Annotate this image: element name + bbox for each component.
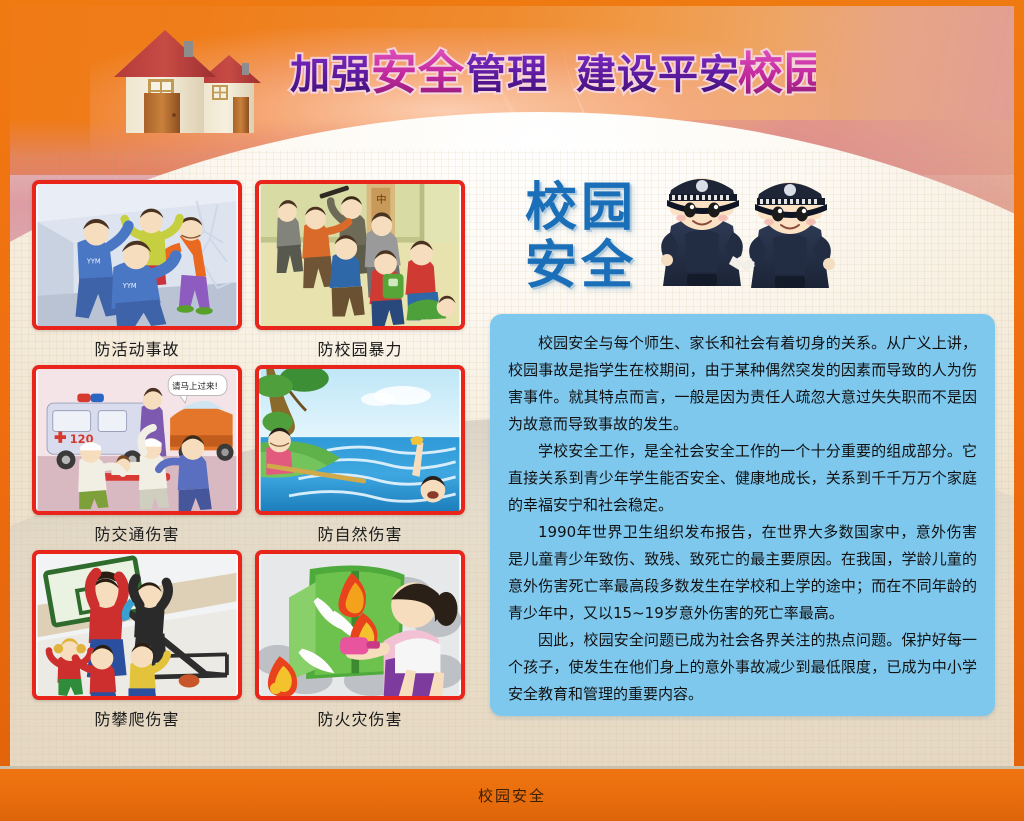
safety-gallery: YYM YYM 防活动事故 [32,180,472,740]
feature-heading-line1: 校园 [525,178,637,238]
article-paragraph-1: 校园安全与每个师生、家长和社会有着切身的关系。从广义上讲，校园事故是指学生在校期… [508,330,977,438]
article-paragraph-3: 1990年世界卫生组织发布报告，在世界大多数国家中，意外伤害是儿童青少年致伤、致… [508,519,977,627]
climbing-basketball-hoop-illustration[interactable] [32,550,242,700]
gallery-item-3[interactable]: 防自然伤害 [255,365,465,545]
gallery-item-0[interactable]: YYM YYM 防活动事故 [32,180,242,360]
svg-text:YYM: YYM [122,282,137,290]
svg-text:校园: 校园 [738,47,816,100]
gallery-caption: 防活动事故 [32,336,242,360]
article-paragraph-2: 学校安全工作，是全社会安全工作的一个十分重要的组成部分。它直接关系到青少年学生能… [508,438,977,519]
article-paragraph-4: 因此，校园安全问题已成为社会各界关注的热点问题。保护好每一个孩子，使发生在他们身… [508,627,977,708]
gallery-item-2[interactable]: 请马上过来! [32,365,242,545]
svg-text:中: 中 [376,193,386,206]
poster-canvas: 加强 加强 安全 安全 管理 管理 建设平安 建设平安 校园 校园 [0,0,1024,821]
feature-heading-row: 校园 安全 [490,178,995,308]
house-logo [86,25,291,135]
drowning-rescue-illustration[interactable] [255,365,465,515]
gallery-caption: 防自然伤害 [255,521,465,545]
gallery-caption: 防攀爬伤害 [32,706,242,730]
gallery-caption: 防交通伤害 [32,521,242,545]
footer-label: 校园安全 [478,785,546,806]
svg-text:安全: 安全 [371,46,465,100]
students-fighting-illustration[interactable]: YYM YYM [32,180,242,330]
frame-left [0,0,10,821]
gallery-caption: 防火灾伤害 [255,706,465,730]
gallery-item-1[interactable]: 中 学 [255,180,465,360]
footer-bar: 校园安全 [0,769,1024,821]
svg-text:管理: 管理 [466,52,548,98]
svg-text:建设平安: 建设平安 [576,52,740,98]
gallery-caption: 防校园暴力 [255,336,465,360]
gallery-item-5[interactable]: 防火灾伤害 [255,550,465,730]
police-officers-mascot [645,168,845,308]
feature-heading-line2: 安全 [525,240,637,292]
school-violence-illustration[interactable]: 中 学 [255,180,465,330]
svg-text:YYM: YYM [86,258,101,266]
frame-right [1014,0,1024,821]
feature-heading: 校园 安全 [525,182,637,292]
gallery-item-4[interactable]: 防攀爬伤害 [32,550,242,730]
article-textbox: 校园安全与每个师生、家长和社会有着切身的关系。从广义上讲，校园事故是指学生在校期… [490,314,995,716]
page-title: 加强 加强 安全 安全 管理 管理 建设平安 建设平安 校园 校园 [286,44,816,102]
traffic-accident-ambulance-illustration[interactable]: 请马上过来! [32,365,242,515]
right-column: 校园 安全 [490,178,995,308]
frame-top [0,0,1024,6]
svg-text:请马上过来!: 请马上过来! [172,381,218,392]
fire-extinguisher-illustration[interactable] [255,550,465,700]
svg-text:加强: 加强 [290,52,372,98]
